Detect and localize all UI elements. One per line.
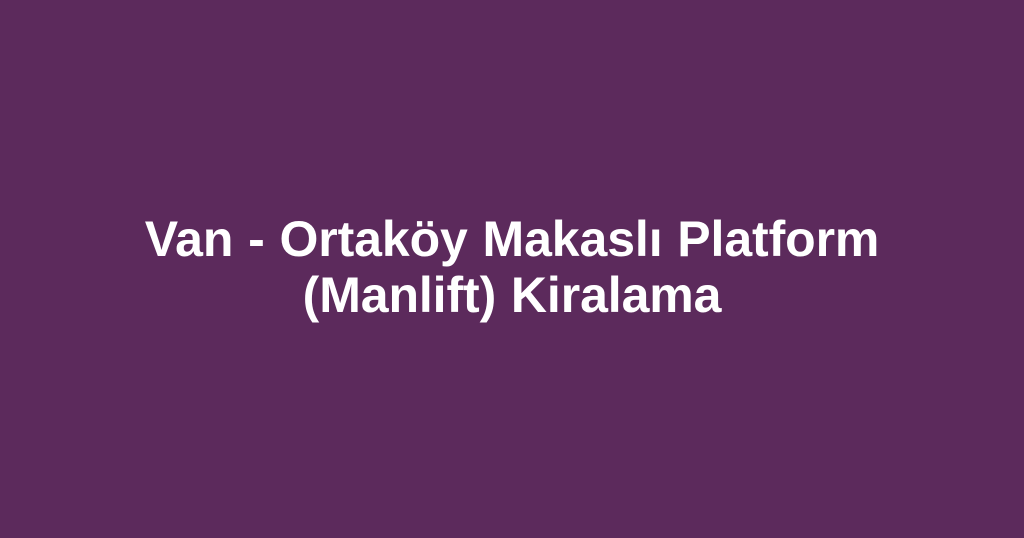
page-title: Van - Ortaköy Makaslı Platform (Manlift)… (40, 211, 984, 323)
share-card-banner: Van - Ortaköy Makaslı Platform (Manlift)… (0, 0, 1024, 538)
banner-content: Van - Ortaköy Makaslı Platform (Manlift)… (0, 211, 1024, 323)
